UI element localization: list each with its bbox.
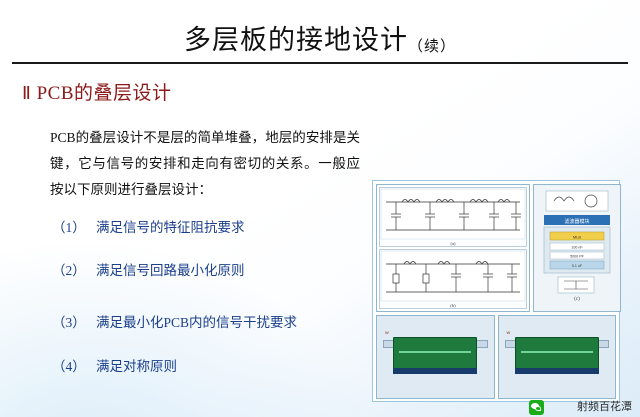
pcb-base (393, 368, 477, 374)
pcb-photo-left: W (376, 315, 495, 399)
filter-schematic-icon (380, 250, 526, 308)
schematic-diagram-a: (a) (379, 187, 527, 247)
list-item: （2）满足信号回路最小化原则 (52, 259, 245, 279)
list-item-number: （3） (52, 311, 96, 331)
footer-brand-label: 射频百花潭 (577, 398, 632, 414)
schematic-group: (a) (376, 184, 530, 312)
section-heading-text: PCB的叠层设计 (37, 83, 172, 104)
list-item-number: （4） (52, 355, 96, 375)
pcb-board (515, 337, 599, 370)
pcb-board (393, 337, 477, 370)
figure-caption-a: (a) (380, 241, 526, 246)
svg-text:0.1 uF: 0.1 uF (572, 264, 583, 268)
pcb-label-right: W (507, 330, 511, 335)
connector-tab (476, 340, 488, 348)
schematic-diagram-b: (b) (379, 249, 527, 309)
figure-caption-c-text: (c) (574, 297, 580, 302)
list-item: （4）满足对称原则 (52, 355, 177, 375)
slide-canvas: 多层板的接地设计（续） Ⅱ PCB的叠层设计 PCB的叠层设计不是层的简单堆叠，… (0, 0, 640, 417)
svg-text:5000 PF: 5000 PF (570, 255, 584, 259)
svg-text:MLB: MLB (573, 235, 582, 240)
list-item: （1）满足信号的特征阻抗要求 (52, 216, 245, 236)
pcb-photo-right: W (498, 315, 617, 399)
section-heading: Ⅱ PCB的叠层设计 (22, 78, 172, 105)
list-item: （3）满足最小化PCB内的信号干扰要求 (52, 311, 297, 331)
page-title-suffix: （续） (408, 39, 456, 55)
svg-text:滤波器模块: 滤波器模块 (564, 218, 589, 225)
connector-tab (597, 340, 609, 348)
pcb-label-left: W (385, 330, 389, 335)
list-item-number: （2） (52, 259, 96, 279)
figure-top-row: (a) (376, 184, 616, 312)
body-paragraph: PCB的叠层设计不是层的简单堆叠，地层的安排是关键，它与信号的安排和走向有密切的… (50, 125, 360, 203)
figure-panel: (a) (372, 180, 620, 402)
title-divider (12, 62, 628, 64)
list-item-label: 满足对称原则 (96, 359, 177, 374)
list-item-label: 满足信号回路最小化原则 (96, 263, 245, 278)
filter-schematic-icon (380, 188, 526, 246)
page-title: 多层板的接地设计（续） (0, 18, 640, 57)
wechat-icon (529, 400, 544, 415)
svg-text:100 nF: 100 nF (571, 246, 583, 250)
pcb-base (515, 368, 599, 374)
list-item-label: 满足信号的特征阻抗要求 (96, 220, 245, 235)
figure-caption-b: (b) (380, 303, 526, 308)
list-item-label: 满足最小化PCB内的信号干扰要求 (96, 315, 297, 330)
page-title-text: 多层板的接地设计 (184, 25, 408, 55)
figure-bottom-row: W W (376, 315, 616, 399)
module-photo: 滤波器模块 MLB 100 nF 5000 PF 0.1 uF (c) (533, 184, 621, 312)
section-mark: Ⅱ (22, 83, 31, 104)
filter-module-icon: 滤波器模块 MLB 100 nF 5000 PF 0.1 uF (c) (534, 185, 620, 307)
footer: 射频百花潭 (0, 395, 640, 417)
list-item-number: （1） (52, 216, 96, 236)
